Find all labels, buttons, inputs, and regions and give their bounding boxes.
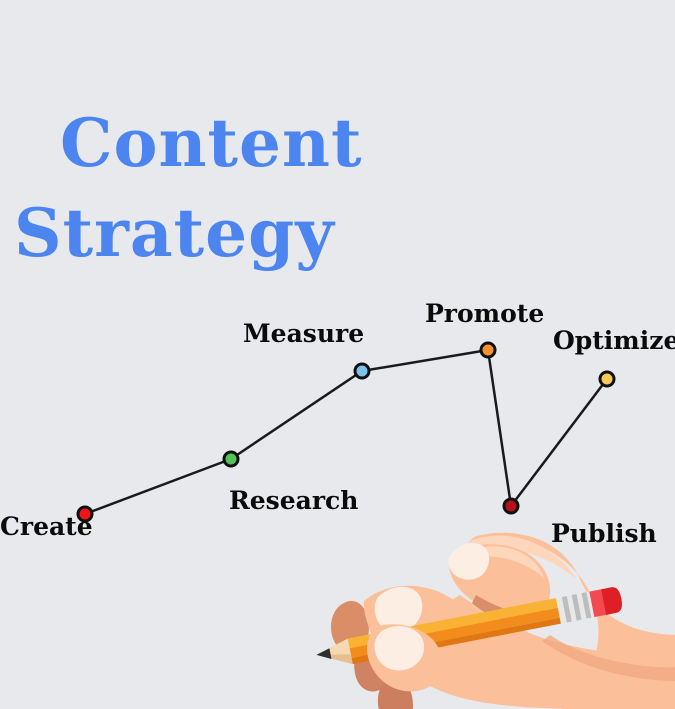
chart-label-optimize: Optimize — [553, 328, 675, 353]
chart-node-optimize[interactable] — [600, 372, 614, 386]
content-strategy-infographic: Content Strategy CreateResearchMeasurePr… — [0, 0, 675, 709]
chart-label-create: Create — [0, 514, 93, 539]
pencil-tip — [316, 648, 332, 661]
chart-label-measure: Measure — [243, 321, 364, 346]
hand-holding-pencil-illustration — [300, 485, 675, 709]
chart-node-measure[interactable] — [355, 364, 369, 378]
chart-label-promote: Promote — [425, 301, 544, 326]
chart-node-promote[interactable] — [481, 343, 495, 357]
chart-node-research[interactable] — [224, 452, 238, 466]
